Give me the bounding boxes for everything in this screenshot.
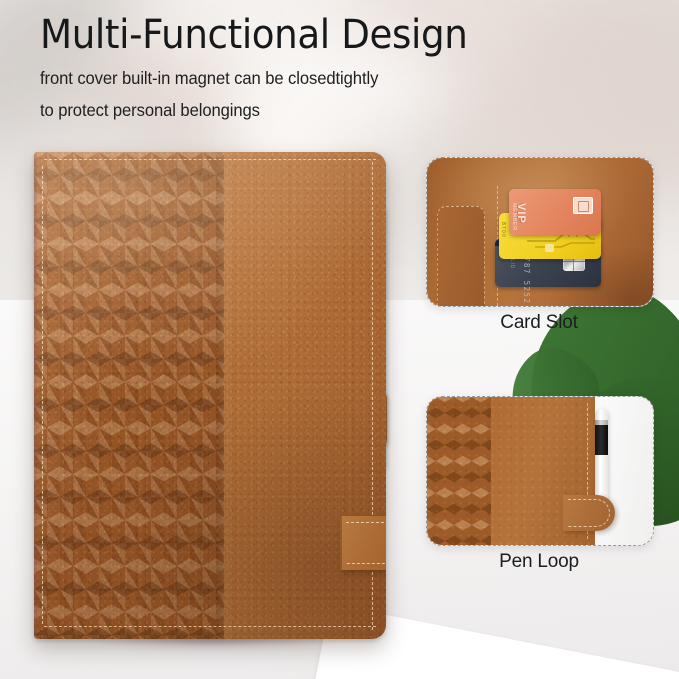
tab-seam bbox=[340, 516, 342, 570]
panel-label-card-slot: Card Slot bbox=[426, 312, 652, 334]
product-marketing-image: Multi-Functional Design front cover buil… bbox=[0, 0, 679, 679]
stitching-left bbox=[42, 166, 43, 624]
tablet-folio-case bbox=[34, 152, 386, 639]
tab-stitching bbox=[346, 522, 386, 564]
contactless-icon bbox=[573, 197, 593, 214]
stylus-pen bbox=[595, 409, 608, 507]
leather-grain-texture bbox=[34, 152, 386, 639]
subtitle-line-1: front cover built-in magnet can be close… bbox=[40, 68, 378, 89]
stitching-bottom bbox=[44, 626, 376, 627]
stylus-grip-band bbox=[595, 425, 608, 455]
magnetic-closure-tab bbox=[340, 516, 386, 570]
list-item: VIP MEMBER bbox=[509, 189, 601, 235]
side-pocket bbox=[437, 206, 485, 307]
card-subtext: MEMBER bbox=[511, 203, 517, 231]
tab-stitching bbox=[568, 499, 610, 527]
detail-panel-pen-loop bbox=[426, 396, 654, 546]
card-number: 8700 bbox=[500, 222, 506, 238]
page-title: Multi-Functional Design bbox=[40, 14, 467, 56]
stitching-top bbox=[44, 159, 376, 160]
detail-panel-card-slot: 8787 5252 VALID 8700 VIP MEMBER bbox=[426, 157, 654, 307]
panel-label-pen-loop: Pen Loop bbox=[426, 551, 652, 573]
magnetic-closure-tab bbox=[563, 495, 615, 531]
case-spine bbox=[34, 152, 37, 639]
subtitle-line-2: to protect personal belongings bbox=[40, 100, 260, 121]
